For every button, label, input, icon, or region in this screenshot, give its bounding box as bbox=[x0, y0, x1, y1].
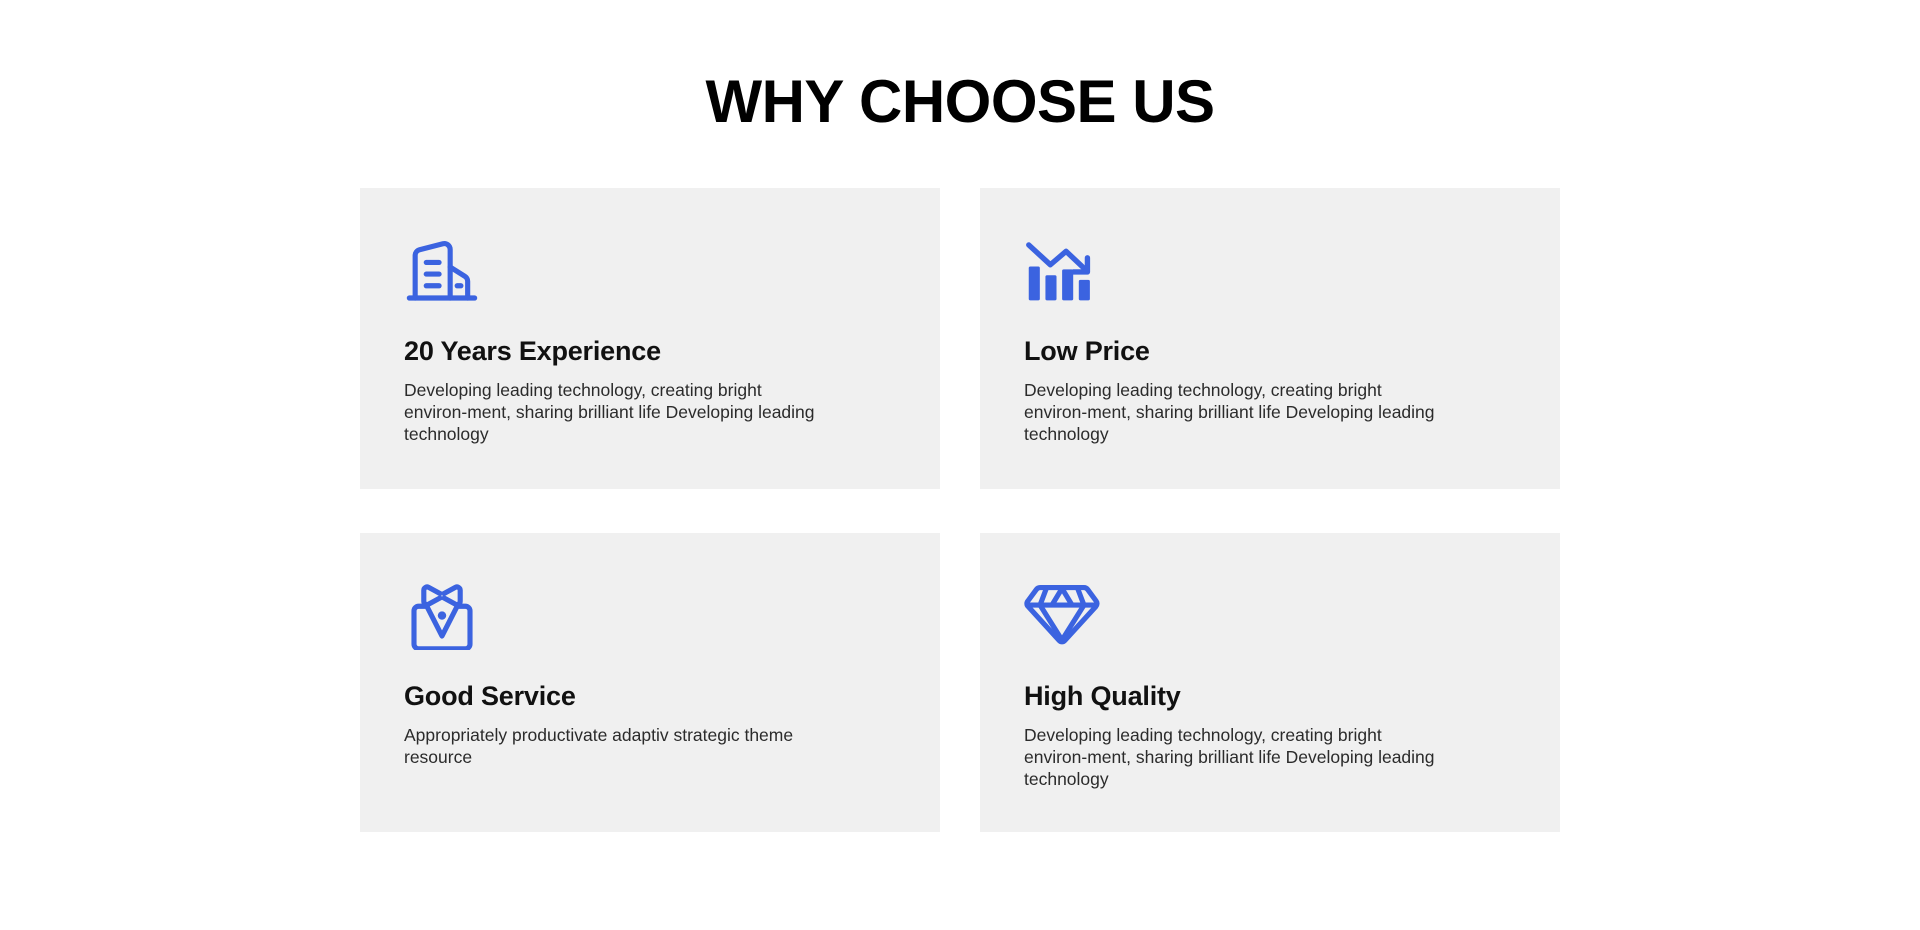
descending-bar-chart-icon bbox=[1024, 235, 1100, 305]
card-title: 20 Years Experience bbox=[404, 335, 896, 367]
card-title: Low Price bbox=[1024, 335, 1516, 367]
feature-card-good-service[interactable]: Good Service Appropriately productivate … bbox=[360, 533, 940, 832]
card-title: High Quality bbox=[1024, 680, 1516, 712]
card-description: Appropriately productivate adaptiv strat… bbox=[404, 724, 824, 768]
card-description: Developing leading technology, creating … bbox=[1024, 724, 1444, 790]
why-choose-us-section: WHY CHOOSE US 20 Years Experience Develo… bbox=[0, 0, 1920, 930]
card-description: Developing leading technology, creating … bbox=[1024, 379, 1444, 445]
card-description: Developing leading technology, creating … bbox=[404, 379, 824, 445]
card-title: Good Service bbox=[404, 680, 896, 712]
feature-card-experience[interactable]: 20 Years Experience Developing leading t… bbox=[360, 188, 940, 489]
feature-card-low-price[interactable]: Low Price Developing leading technology,… bbox=[980, 188, 1560, 489]
diamond-gem-icon bbox=[1024, 580, 1100, 650]
page-title: WHY CHOOSE US bbox=[0, 66, 1920, 138]
office-building-icon bbox=[404, 235, 480, 305]
feature-card-high-quality[interactable]: High Quality Developing leading technolo… bbox=[980, 533, 1560, 832]
bow-tie-suit-icon bbox=[404, 580, 480, 650]
feature-card-grid: 20 Years Experience Developing leading t… bbox=[360, 188, 1560, 832]
